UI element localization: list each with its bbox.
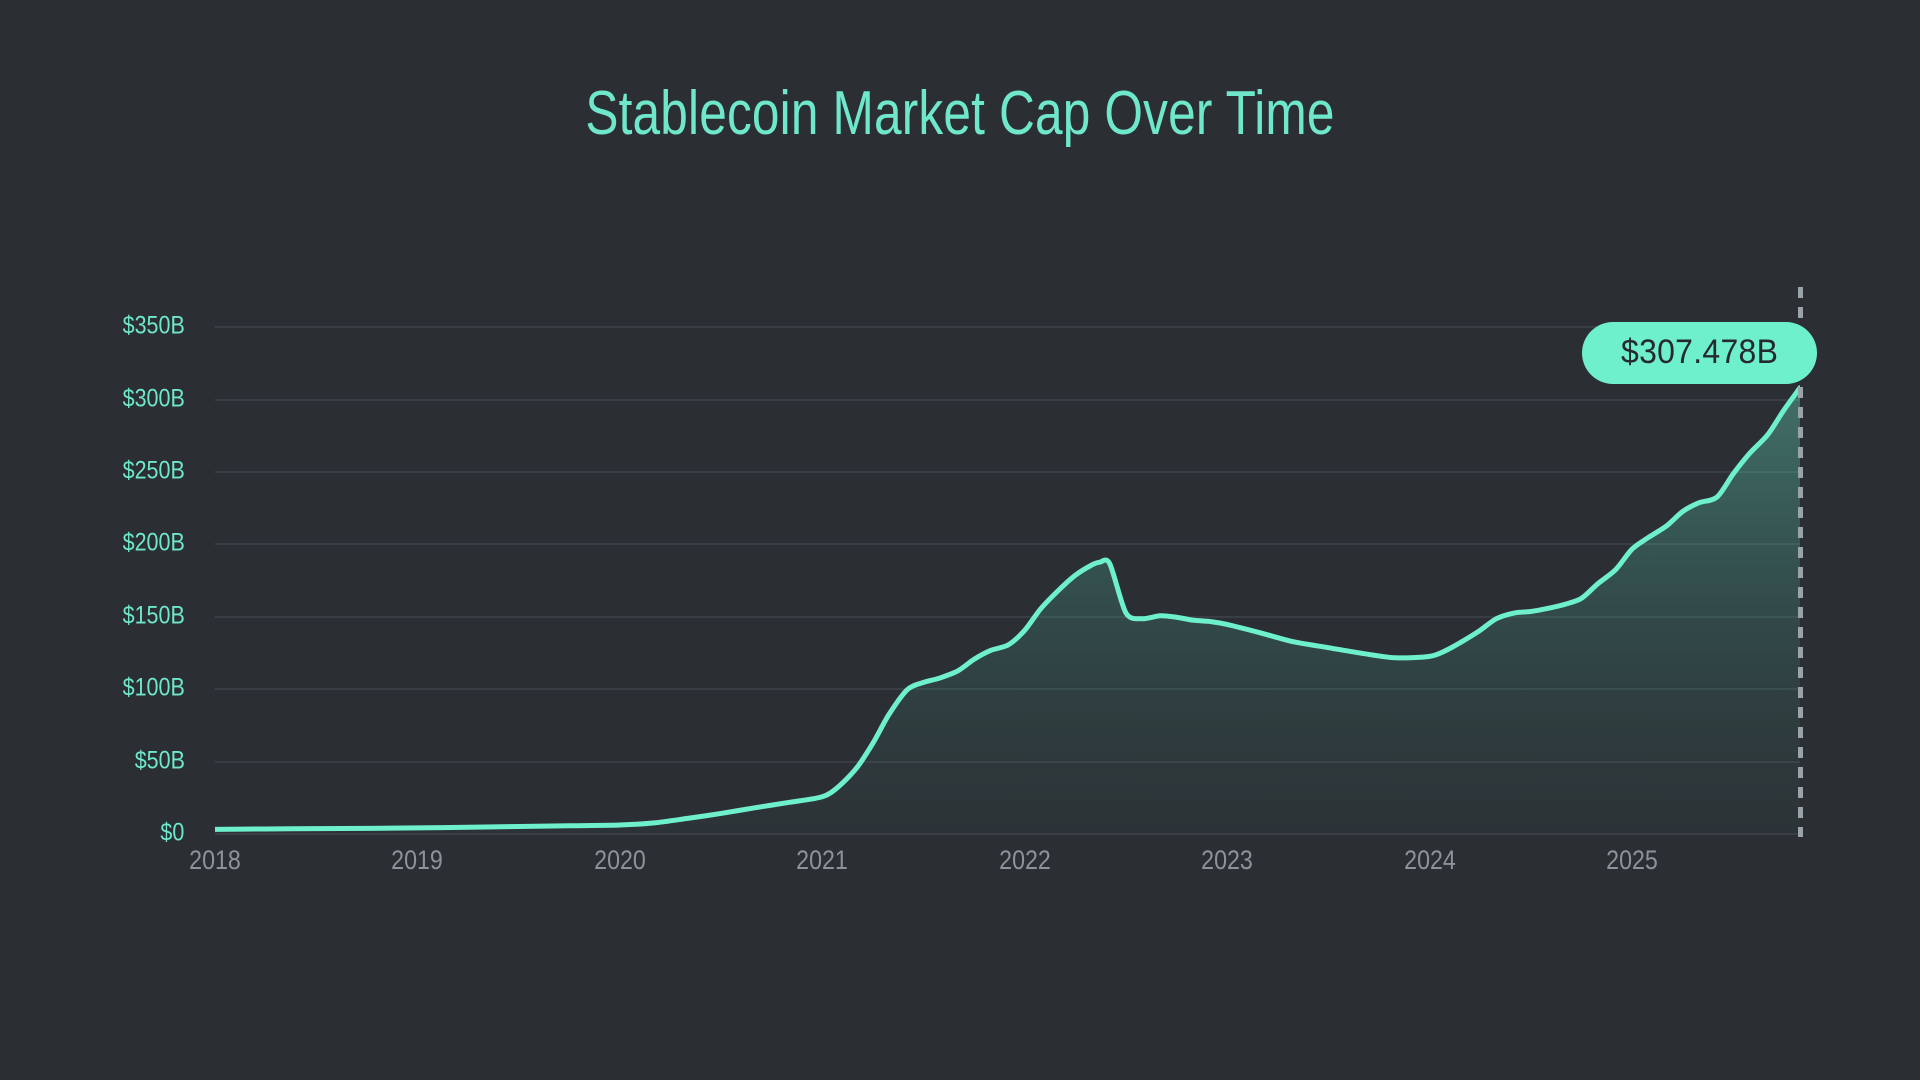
y-axis-tick-label: $0 [161, 819, 200, 848]
x-axis-tick-label: 2023 [1201, 845, 1253, 876]
x-axis-tick-label: 2019 [392, 845, 444, 876]
chart-page: Stablecoin Market Cap Over Time $0$50B$1… [0, 0, 1920, 1080]
value-badge[interactable]: $307.478B [1582, 322, 1817, 384]
y-axis: $0$50B$100B$150B$200B$250B$300B$350B [0, 290, 200, 833]
x-axis: 20182019202020212022202320242025 [215, 845, 1800, 885]
y-axis-tick-label: $50B [134, 746, 200, 775]
x-axis-tick-label: 2024 [1404, 845, 1456, 876]
y-axis-tick-label: $250B [122, 457, 200, 486]
y-axis-tick-label: $300B [122, 384, 200, 413]
y-axis-tick-label: $100B [122, 674, 200, 703]
page-title: Stablecoin Market Cap Over Time [192, 78, 1728, 149]
x-axis-tick-label: 2025 [1606, 845, 1658, 876]
y-axis-tick-label: $150B [122, 601, 200, 630]
series-area-fill [215, 388, 1800, 833]
gridline [215, 833, 1800, 835]
x-axis-tick-label: 2020 [594, 845, 646, 876]
y-axis-tick-label: $350B [122, 312, 200, 341]
x-axis-tick-label: 2018 [189, 845, 241, 876]
x-axis-tick-label: 2022 [999, 845, 1051, 876]
area-chart-svg [215, 290, 1800, 833]
value-badge-label: $307.478B [1621, 333, 1778, 372]
y-axis-tick-label: $200B [122, 529, 200, 558]
x-axis-tick-label: 2021 [796, 845, 848, 876]
plot-area [215, 290, 1800, 833]
